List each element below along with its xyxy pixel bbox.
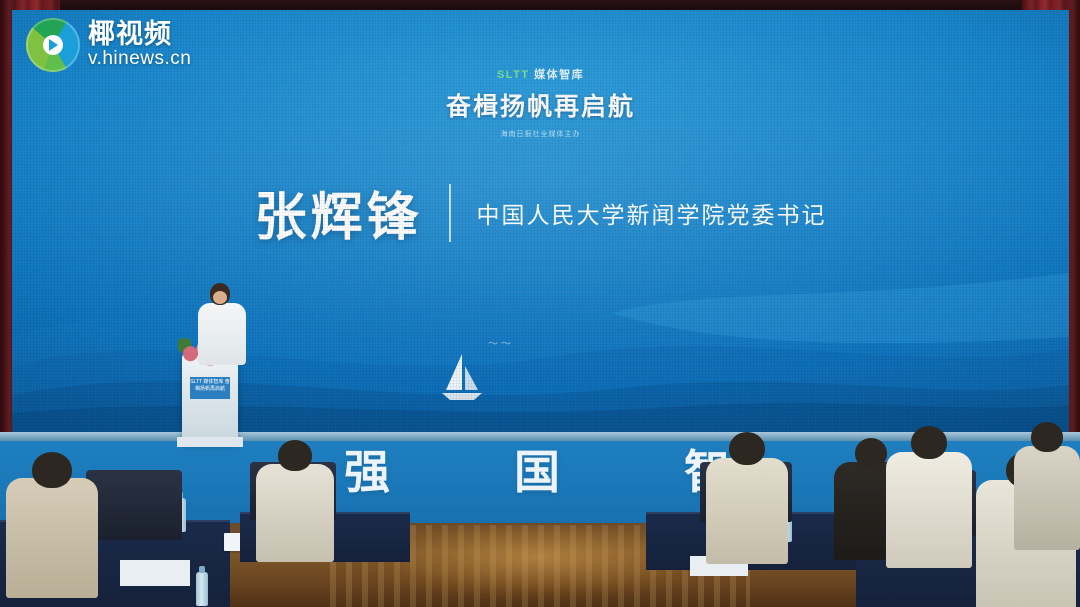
water-bottle-left-2 [196,572,208,606]
person-head [1031,422,1063,452]
person-head [729,432,765,465]
speaker-person [196,283,250,363]
person-head [911,426,947,459]
chair-left-1 [86,470,182,540]
watermark-url: v.hinews.cn [88,48,191,70]
podium-plate: SLTT 媒体智库 奋楫扬帆再启航 [190,377,230,399]
event-logo: SLTT 媒体智库 奋楫扬帆再启航 海南日报社全媒体主办 [12,66,1069,139]
speaker-caption: 张辉锋 中国人民大学新闻学院党委书记 [12,175,1069,250]
event-logo-prefix: SLTT [497,69,530,81]
person-body [886,452,972,568]
watermark-text: 椰视频 v.hinews.cn [88,20,191,70]
play-globe-icon [26,18,80,72]
speaker-face [213,291,227,304]
video-frame: 〜〜 SLTT 媒体智库 奋楫扬帆再启航 海南日报社全媒体主办 张辉锋 中国人民… [0,0,1080,607]
person-body [706,458,788,564]
paper-left-1 [120,560,190,586]
audience-person-right-5 [1014,422,1080,542]
person-head [278,440,312,471]
backdrop-char-2: 国 [514,436,566,520]
birds-icon: 〜〜 [488,335,514,350]
watermark-title: 椰视频 [88,20,191,48]
person-body [1014,446,1080,550]
event-subline: 海南日报社全媒体主办 [12,129,1069,139]
audience-person-left-1 [6,452,98,582]
led-screen: 〜〜 SLTT 媒体智库 奋楫扬帆再启航 海南日报社全媒体主办 张辉锋 中国人民… [12,10,1069,432]
audience-person-left-2 [256,440,334,550]
backdrop-char-1: 强 [344,436,396,520]
podium-base [177,437,243,447]
sailboat-icon [440,352,484,404]
person-body [6,478,98,598]
person-body [256,464,334,562]
caption-divider [449,184,451,242]
audience-person-right-3 [886,426,972,556]
speaker-body [198,303,246,365]
person-head [32,452,72,488]
speaker-title: 中国人民大学新闻学院党委书记 [477,196,827,230]
speaker-name: 张辉锋 [254,175,422,250]
channel-watermark: 椰视频 v.hinews.cn [26,18,191,72]
audience-person-right-1 [706,432,788,552]
play-triangle-icon [49,39,58,51]
event-logo-suffix: 媒体智库 [534,69,584,81]
person-head [855,438,887,468]
event-headline: 奋楫扬帆再启航 [12,87,1069,123]
